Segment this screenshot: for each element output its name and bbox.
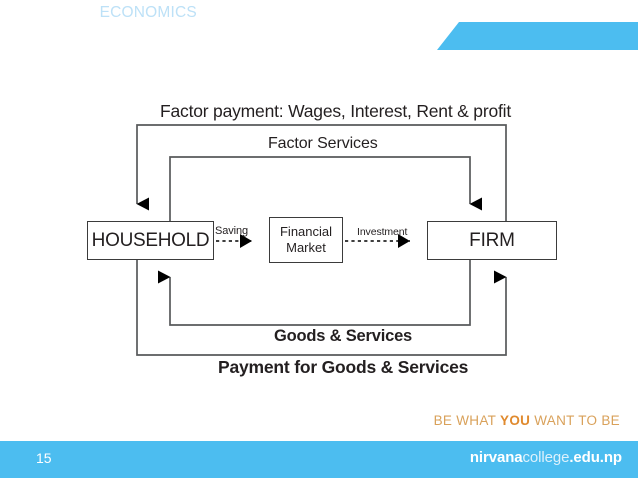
tagline-post: WANT TO BE <box>530 413 620 428</box>
footer-url-tld: .edu.np <box>569 449 622 466</box>
label-investment: Investment <box>357 226 407 238</box>
tagline-pre: BE WHAT <box>434 413 500 428</box>
node-firm: FIRM <box>427 221 557 260</box>
label-payment-for-goods: Payment for Goods & Services <box>218 357 468 378</box>
node-financial-market-line1: Financial <box>280 224 332 239</box>
footer-url-mid: college <box>523 449 570 466</box>
footer-url-brand: nirvana <box>470 449 523 466</box>
label-factor-services: Factor Services <box>268 135 378 153</box>
label-factor-payment: Factor payment: Wages, Interest, Rent & … <box>160 101 511 122</box>
footer-url[interactable]: nirvanacollege.edu.np <box>470 449 622 466</box>
slide-canvas: MACROECONOMICS <box>0 0 638 478</box>
label-saving: Saving <box>215 225 248 237</box>
flow-goods-services <box>170 260 470 325</box>
node-financial-market-label: FinancialMarket <box>280 224 332 257</box>
node-financial-market: FinancialMarket <box>269 217 343 263</box>
node-financial-market-line2: Market <box>286 240 326 255</box>
tagline: BE WHAT YOU WANT TO BE <box>434 413 620 428</box>
tagline-emphasis: YOU <box>500 413 530 428</box>
circular-flow-diagram: Factor payment: Wages, Interest, Rent & … <box>0 0 638 478</box>
node-firm-label: FIRM <box>469 230 515 252</box>
label-goods-services: Goods & Services <box>274 327 412 346</box>
page-number: 15 <box>36 450 52 466</box>
node-household: HOUSEHOLD <box>87 221 214 260</box>
flow-factor-services <box>170 157 470 221</box>
node-household-label: HOUSEHOLD <box>92 230 210 252</box>
